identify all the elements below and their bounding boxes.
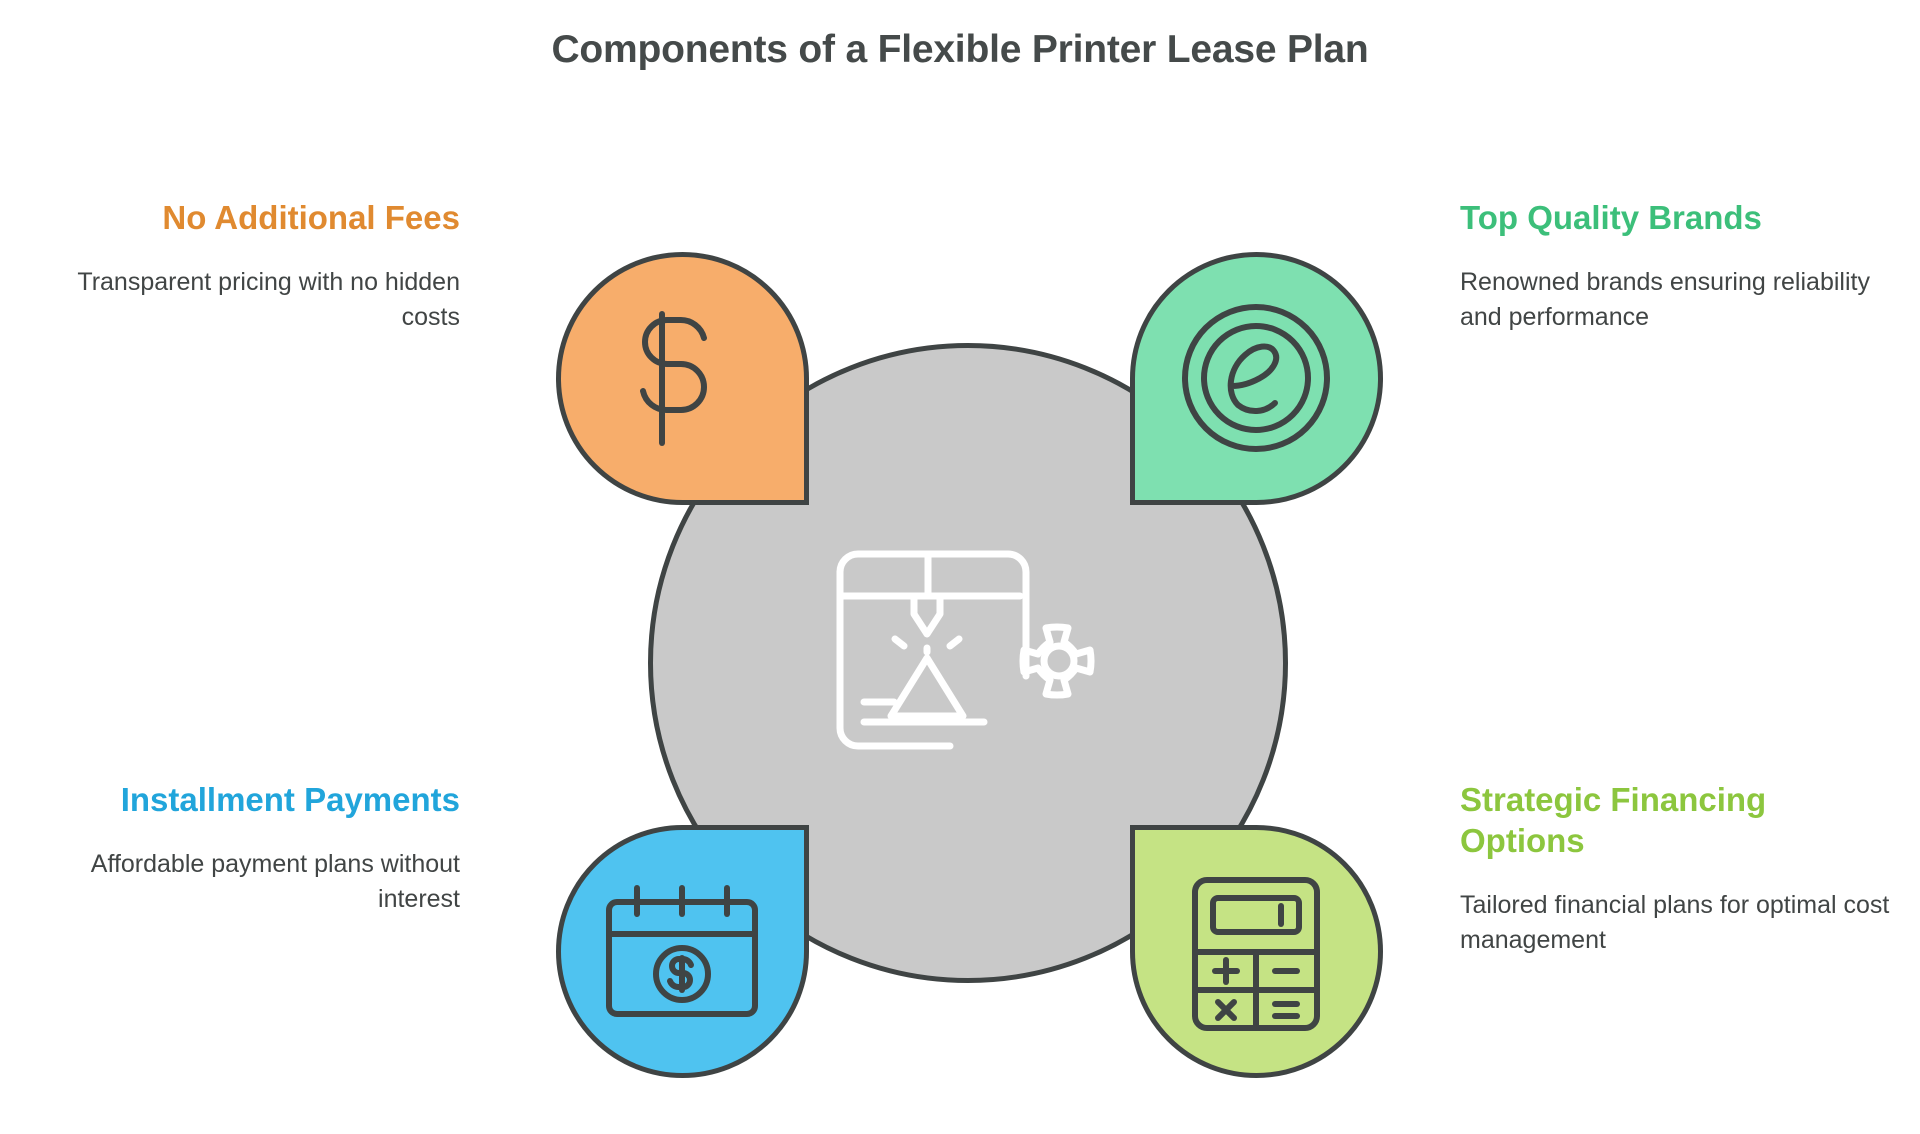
segment-heading-installment-payments: Installment Payments (25, 780, 460, 821)
segment-shape-top-quality-brands[interactable] (1130, 252, 1383, 505)
segment-description-no-additional-fees: Transparent pricing with no hidden costs (25, 265, 460, 336)
segment-text-installment-payments: Installment Payments Affordable payment … (25, 780, 460, 918)
segment-description-installment-payments: Affordable payment plans without interes… (25, 847, 460, 918)
segment-heading-top-quality-brands: Top Quality Brands (1460, 198, 1895, 239)
page-title: Components of a Flexible Printer Lease P… (0, 28, 1920, 72)
segment-shape-strategic-financing-options[interactable] (1130, 825, 1383, 1078)
calendar-dollar-icon (561, 830, 804, 1073)
segment-heading-strategic-financing-options: Strategic Financing Options (1460, 780, 1895, 862)
segment-text-no-additional-fees: No Additional Fees Transparent pricing w… (25, 198, 460, 336)
segment-description-top-quality-brands: Renowned brands ensuring reliability and… (1460, 265, 1895, 336)
segment-heading-no-additional-fees: No Additional Fees (25, 198, 460, 239)
dollar-sign-icon (561, 257, 804, 500)
segment-shape-no-additional-fees[interactable] (556, 252, 809, 505)
segment-text-strategic-financing-options: Strategic Financing Options Tailored fin… (1460, 780, 1895, 959)
segment-shape-installment-payments[interactable] (556, 825, 809, 1078)
calculator-icon (1135, 830, 1378, 1073)
segment-text-top-quality-brands: Top Quality Brands Renowned brands ensur… (1460, 198, 1895, 336)
segment-description-strategic-financing-options: Tailored financial plans for optimal cos… (1460, 888, 1895, 959)
euro-circle-icon (1135, 257, 1378, 500)
